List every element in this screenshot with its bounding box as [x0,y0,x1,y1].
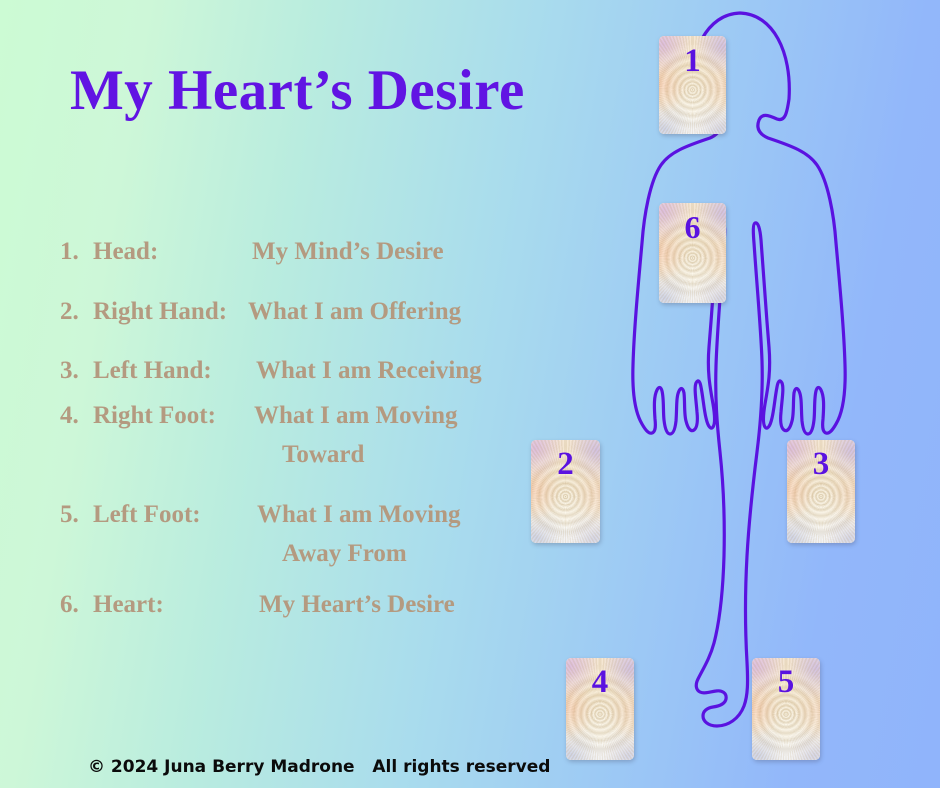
card-number: 2 [531,448,600,481]
list-item-number: 5. [60,502,79,527]
card-head[interactable]: 1 [659,36,726,134]
list-item-label: Left Foot: [93,502,201,527]
card-number: 4 [566,666,634,699]
page-title: My Heart’s Desire [70,58,525,123]
list-item-value-line2: Toward [282,442,364,467]
card-right-hand[interactable]: 2 [531,440,600,543]
list-item-label: Head: [93,239,158,264]
card-right-foot[interactable]: 4 [566,658,634,760]
list-item-number: 4. [60,403,79,428]
list-item-number: 2. [60,299,79,324]
card-left-foot[interactable]: 5 [752,658,820,760]
list-item-value: My Heart’s Desire [259,592,455,617]
list-item-label: Heart: [93,592,164,617]
list-item-label: Right Hand: [93,299,227,324]
card-number: 6 [659,211,726,243]
card-number: 5 [752,666,820,699]
slide-canvas: My Heart’s Desire 1. Head: My Mind’s Des… [0,0,940,788]
card-number: 3 [787,448,855,481]
list-item-label: Right Foot: [93,403,216,428]
list-item-value: What I am Receiving [256,358,482,383]
list-item-value: What I am Moving [257,502,460,527]
list-item-label: Left Hand: [93,358,212,383]
list-item-value: What I am Moving [254,403,457,428]
list-item-value: What I am Offering [248,299,461,324]
list-item-number: 6. [60,592,79,617]
list-item-number: 1. [60,239,79,264]
card-heart[interactable]: 6 [659,203,726,303]
list-item-number: 3. [60,358,79,383]
list-item-value: My Mind’s Desire [252,239,444,264]
card-number: 1 [659,45,726,78]
card-left-hand[interactable]: 3 [787,440,855,543]
copyright-notice: © 2024 Juna Berry Madrone All rights res… [88,757,550,777]
list-item-value-line2: Away From [282,541,407,566]
